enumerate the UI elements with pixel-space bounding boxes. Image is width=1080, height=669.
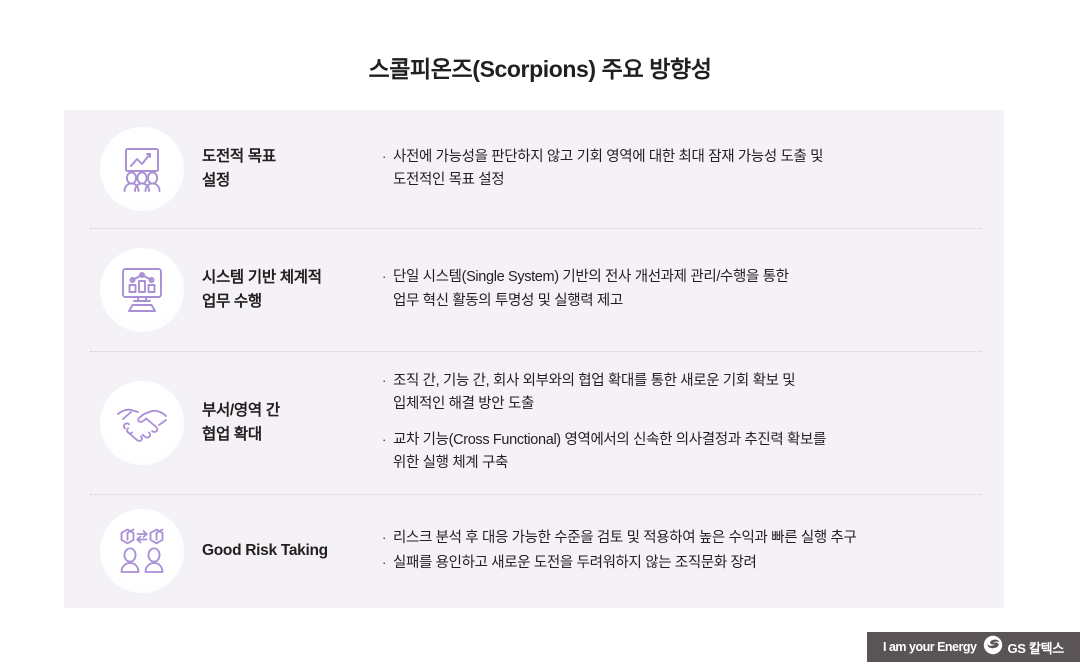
bullet-text: 리스크 분석 후 대응 가능한 수준을 검토 및 적용하여 높은 수익과 빠른 …: [393, 527, 982, 550]
gs-swirl-mark-icon: [983, 635, 1003, 660]
bullet-text: 실패를 용인하고 새로운 도전을 두려워하지 않는 조직문화 장려: [393, 552, 982, 575]
bullet-marker: ·: [382, 429, 393, 476]
bullet-item: · 단일 시스템(Single System) 기반의 전사 개선과제 관리/수…: [382, 266, 982, 313]
bullet-marker: ·: [382, 552, 393, 575]
row-icon-cell: [90, 127, 194, 211]
direction-row: Good Risk Taking · 리스크 분석 후 대응 가능한 수준을 검…: [64, 495, 1004, 608]
bullet-marker: ·: [382, 146, 393, 193]
row-body: · 단일 시스템(Single System) 기반의 전사 개선과제 관리/수…: [370, 266, 982, 313]
gs-caltex-logo: GS 칼텍스: [983, 635, 1063, 660]
brand-slogan: I am your Energy: [883, 640, 976, 654]
bullet-text: 사전에 가능성을 판단하지 않고 기회 영역에 대한 최대 잠재 가능성 도출 …: [393, 146, 982, 193]
exchange-cubes-people-icon: [114, 523, 170, 579]
row-body: · 리스크 분석 후 대응 가능한 수준을 검토 및 적용하여 높은 수익과 빠…: [370, 527, 982, 576]
bullet-marker: ·: [382, 527, 393, 550]
row-icon-cell: [90, 509, 194, 593]
row-body: · 조직 간, 기능 간, 회사 외부와의 협업 확대를 통한 새로운 기회 확…: [370, 370, 982, 476]
monitor-bar-chart-icon: [114, 262, 170, 318]
row-heading: 시스템 기반 체계적 업무 수행: [194, 266, 370, 314]
presentation-chart-audience-icon: [114, 141, 170, 197]
bullet-item: · 리스크 분석 후 대응 가능한 수준을 검토 및 적용하여 높은 수익과 빠…: [382, 527, 982, 550]
bullet-text: 조직 간, 기능 간, 회사 외부와의 협업 확대를 통한 새로운 기회 확보 …: [393, 370, 982, 417]
page-title: 스콜피온즈(Scorpions) 주요 방향성: [0, 50, 1080, 84]
bullet-marker: ·: [382, 266, 393, 313]
brand-name: GS 칼텍스: [1007, 638, 1063, 657]
row-heading: 도전적 목표 설정: [194, 145, 370, 193]
row-icon-cell: [90, 248, 194, 332]
directions-panel: 도전적 목표 설정 · 사전에 가능성을 판단하지 않고 기회 영역에 대한 최…: [64, 110, 1004, 608]
footer-brand-badge: I am your Energy GS 칼텍스: [867, 632, 1080, 662]
row-heading: 부서/영역 간 협업 확대: [194, 399, 370, 447]
direction-row-list: 도전적 목표 설정 · 사전에 가능성을 판단하지 않고 기회 영역에 대한 최…: [64, 110, 1004, 608]
handshake-icon: [113, 394, 171, 452]
bullet-text: 단일 시스템(Single System) 기반의 전사 개선과제 관리/수행을…: [393, 266, 982, 313]
row-heading: Good Risk Taking: [194, 539, 370, 563]
bullet-marker: ·: [382, 370, 393, 417]
direction-row: 시스템 기반 체계적 업무 수행 · 단일 시스템(Single System)…: [64, 229, 1004, 350]
icon-circle: [100, 381, 184, 465]
icon-circle: [100, 509, 184, 593]
bullet-text: 교차 기능(Cross Functional) 영역에서의 신속한 의사결정과 …: [393, 429, 982, 476]
bullet-item: · 조직 간, 기능 간, 회사 외부와의 협업 확대를 통한 새로운 기회 확…: [382, 370, 982, 417]
icon-circle: [100, 127, 184, 211]
bullet-item: · 실패를 용인하고 새로운 도전을 두려워하지 않는 조직문화 장려: [382, 552, 982, 575]
direction-row: 부서/영역 간 협업 확대 · 조직 간, 기능 간, 회사 외부와의 협업 확…: [64, 352, 1004, 494]
bullet-item: · 사전에 가능성을 판단하지 않고 기회 영역에 대한 최대 잠재 가능성 도…: [382, 146, 982, 193]
bullet-item: · 교차 기능(Cross Functional) 영역에서의 신속한 의사결정…: [382, 429, 982, 476]
row-icon-cell: [90, 381, 194, 465]
row-body: · 사전에 가능성을 판단하지 않고 기회 영역에 대한 최대 잠재 가능성 도…: [370, 146, 982, 193]
direction-row: 도전적 목표 설정 · 사전에 가능성을 판단하지 않고 기회 영역에 대한 최…: [64, 110, 1004, 228]
icon-circle: [100, 248, 184, 332]
